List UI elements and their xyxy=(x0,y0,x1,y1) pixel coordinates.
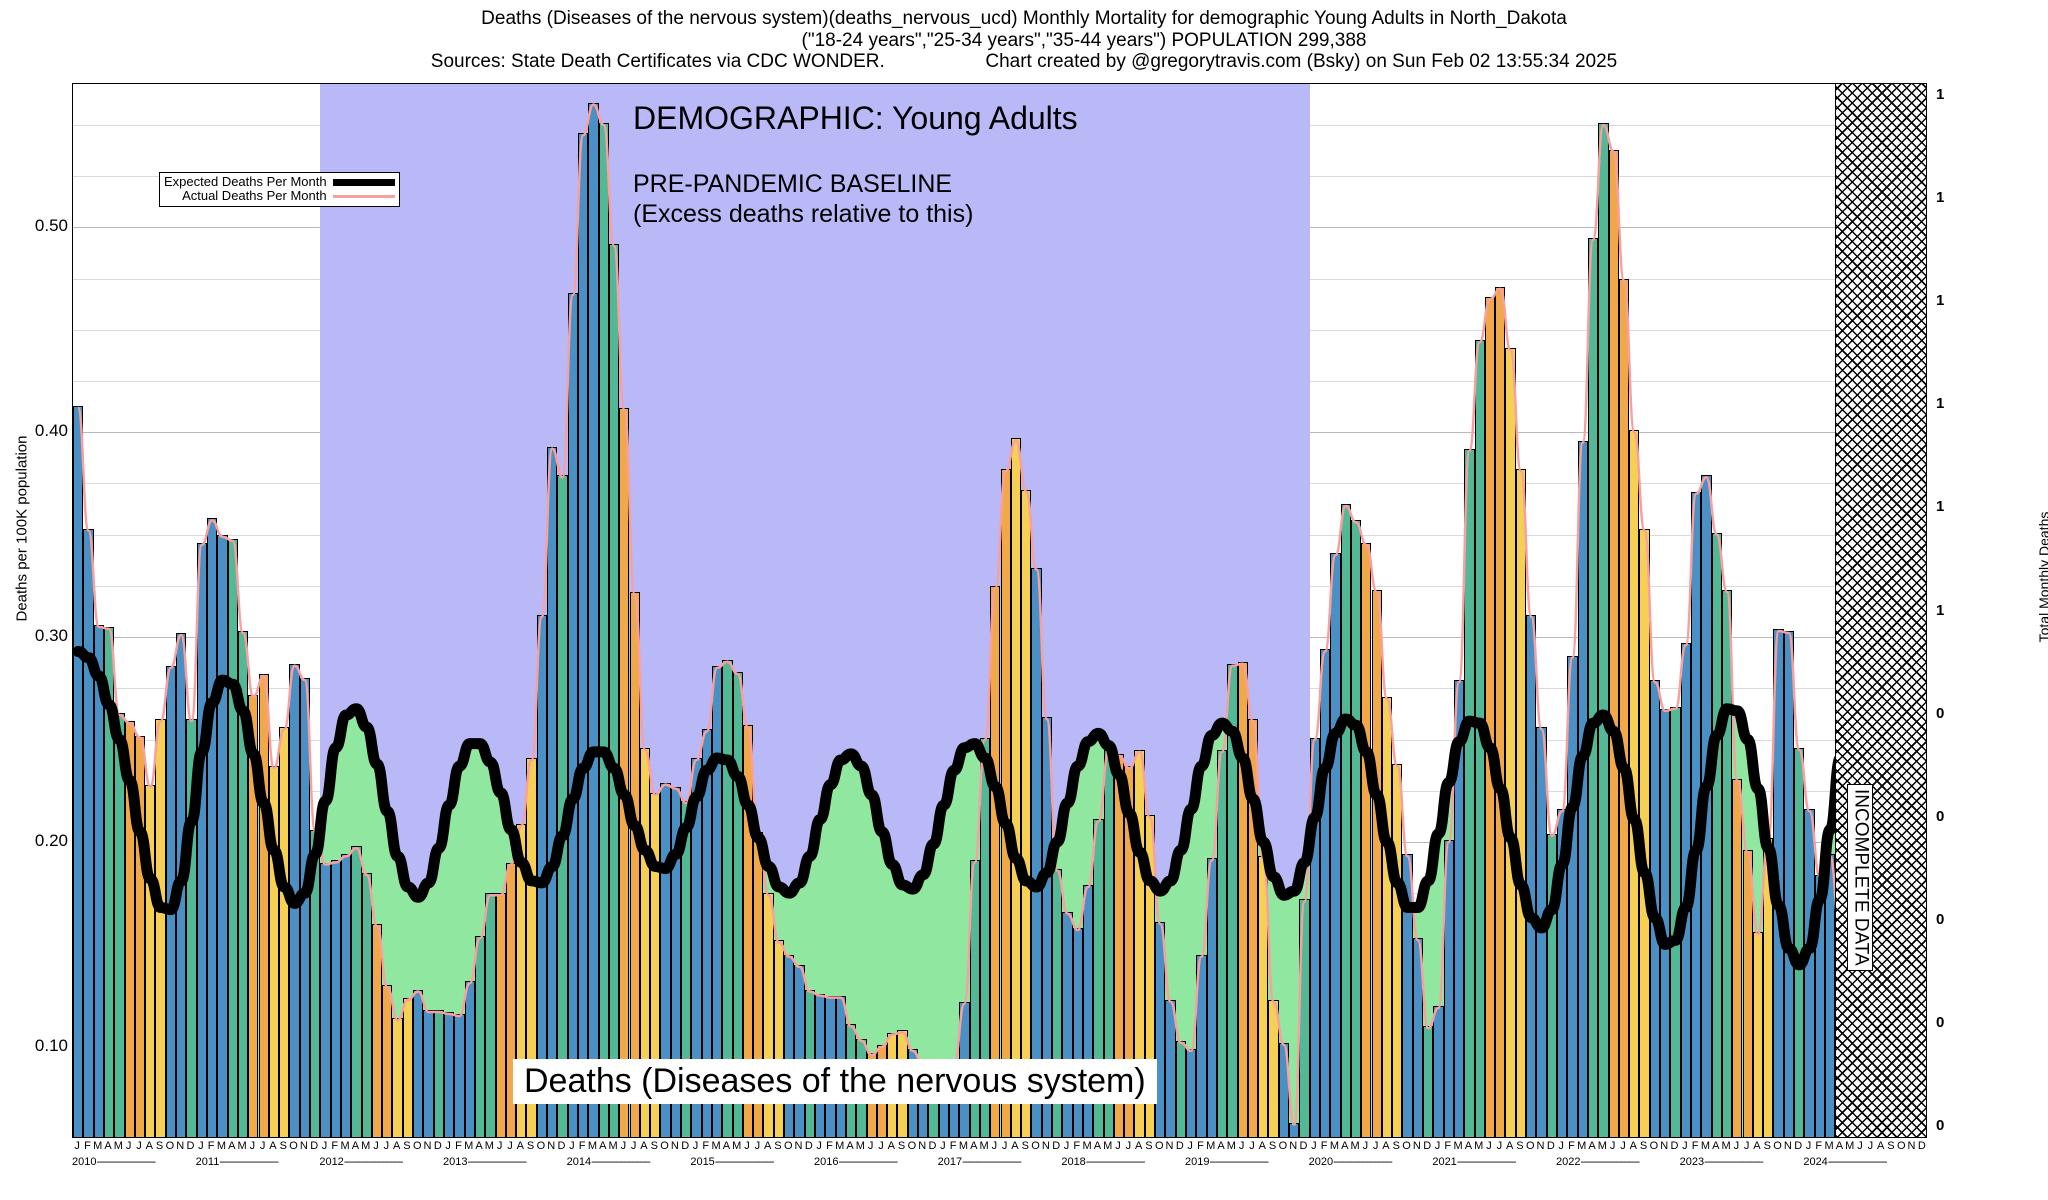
y-axis-right-tick: 1 xyxy=(1936,498,1976,515)
x-axis-year-group: 2020---------------------- xyxy=(1309,1156,1392,1168)
chart-legend: Expected Deaths Per Month Actual Deaths … xyxy=(159,172,400,207)
incomplete-data-region xyxy=(1835,84,1927,1137)
x-axis: JFMAMJJASONDJFMAMJJASONDJFMAMJJASONDJFMA… xyxy=(72,1140,1927,1200)
x-axis-year-label: 2016 xyxy=(814,1156,838,1168)
x-axis-year-rule: ---------------------- xyxy=(1333,1156,1392,1168)
x-axis-year-label: 2010 xyxy=(72,1156,96,1168)
x-axis-year-rule: ---------------------- xyxy=(467,1156,526,1168)
demographic-annotation: DEMOGRAPHIC: Young Adults xyxy=(633,100,1078,137)
x-axis-year-group: 2018---------------------- xyxy=(1061,1156,1144,1168)
y-axis-right-tick: 1 xyxy=(1936,602,1976,619)
y-axis-left-tick: 0.40 xyxy=(0,421,68,441)
expected-line-path xyxy=(78,651,1923,964)
chart-sources-line: Sources: State Death Certificates via CD… xyxy=(0,51,2048,73)
x-axis-year-rule: ---------------------- xyxy=(344,1156,403,1168)
x-axis-year-group: 2023---------------------- xyxy=(1680,1156,1763,1168)
chart-page: Deaths (Diseases of the nervous system)(… xyxy=(0,0,2048,1200)
x-axis-year-label: 2023 xyxy=(1680,1156,1704,1168)
y-axis-right-tick: 1 xyxy=(1936,189,1976,206)
y-axis-right-tick: 0 xyxy=(1936,808,1976,825)
x-axis-year-label: 2015 xyxy=(690,1156,714,1168)
x-axis-year-rule: ---------------------- xyxy=(96,1156,155,1168)
x-axis-year-label: 2020 xyxy=(1309,1156,1333,1168)
x-axis-year-label: 2021 xyxy=(1432,1156,1456,1168)
incomplete-data-label: INCOMPLETE DATA xyxy=(1847,784,1873,971)
x-axis-year-group: 2013---------------------- xyxy=(443,1156,526,1168)
y-axis-right-tick: 0 xyxy=(1936,1014,1976,1031)
x-axis-year-rule: ---------------------- xyxy=(1704,1156,1763,1168)
legend-label-expected: Expected Deaths Per Month xyxy=(164,175,327,189)
x-axis-year-label: 2024 xyxy=(1803,1156,1827,1168)
x-axis-year-group: 2019---------------------- xyxy=(1185,1156,1268,1168)
y-axis-left-tick: 0.50 xyxy=(0,216,68,236)
credit-text: Chart created by @gregorytravis.com (Bsk… xyxy=(985,51,1617,72)
x-axis-month-letter: D xyxy=(1916,1140,1928,1152)
x-axis-year-rule: ---------------------- xyxy=(1828,1156,1887,1168)
y-axis-right-tick: 0 xyxy=(1936,1117,1976,1134)
x-axis-year-group: 2010---------------------- xyxy=(72,1156,155,1168)
y-axis-right-tick: 1 xyxy=(1936,292,1976,309)
plot-area: INCOMPLETE DATA DEMOGRAPHIC: Young Adult… xyxy=(72,83,1927,1138)
baseline-annotation-line1: PRE-PANDEMIC BASELINE xyxy=(633,169,973,199)
chart-subtitle: ("18-24 years","25-34 years","35-44 year… xyxy=(0,30,2048,51)
legend-swatch-actual xyxy=(333,195,395,198)
chart-title: Deaths (Diseases of the nervous system)(… xyxy=(0,8,2048,30)
x-axis-year-label: 2012 xyxy=(319,1156,343,1168)
x-axis-year-rule: ---------------------- xyxy=(962,1156,1021,1168)
x-axis-year-group: 2014---------------------- xyxy=(567,1156,650,1168)
x-axis-year-label: 2011 xyxy=(196,1156,220,1168)
x-axis-year-group: 2012---------------------- xyxy=(319,1156,402,1168)
y-axis-right-tick: 0 xyxy=(1936,911,1976,928)
y-axis-right-tick: 1 xyxy=(1936,395,1976,412)
x-axis-year-group: 2017---------------------- xyxy=(938,1156,1021,1168)
legend-swatch-expected xyxy=(333,179,395,186)
x-axis-year-rule: ---------------------- xyxy=(1580,1156,1639,1168)
x-axis-year-group: 2024---------------------- xyxy=(1803,1156,1886,1168)
x-axis-year-label: 2022 xyxy=(1556,1156,1580,1168)
y-axis-right-label-line1: Total Monthly Deaths xyxy=(2036,417,2048,737)
y-axis-left-tick: 0.20 xyxy=(0,831,68,851)
y-axis-left-tick: 0.10 xyxy=(0,1036,68,1056)
legend-row-actual: Actual Deaths Per Month xyxy=(164,189,395,203)
chart-header: Deaths (Diseases of the nervous system)(… xyxy=(0,8,2048,73)
x-axis-year-rule: ---------------------- xyxy=(1209,1156,1268,1168)
x-axis-year-rule: ---------------------- xyxy=(219,1156,278,1168)
x-axis-year-group: 2022---------------------- xyxy=(1556,1156,1639,1168)
x-axis-year-label: 2013 xyxy=(443,1156,467,1168)
x-axis-year-rule: ---------------------- xyxy=(715,1156,774,1168)
x-axis-year-group: 2011---------------------- xyxy=(196,1156,278,1168)
y-axis-right-tick: 0 xyxy=(1936,705,1976,722)
x-axis-year-rule: ---------------------- xyxy=(591,1156,650,1168)
x-axis-year-label: 2017 xyxy=(938,1156,962,1168)
baseline-annotation: PRE-PANDEMIC BASELINE (Excess deaths rel… xyxy=(633,169,973,229)
y-axis-right-label: Total Monthly Deaths (2023 population no… xyxy=(2036,417,2048,737)
y-axis-left-tick: 0.30 xyxy=(0,626,68,646)
y-axis-right-tick: 1 xyxy=(1936,86,1976,103)
x-axis-year-label: 2019 xyxy=(1185,1156,1209,1168)
x-axis-year-label: 2014 xyxy=(567,1156,591,1168)
legend-row-expected: Expected Deaths Per Month xyxy=(164,175,395,189)
expected-deaths-line xyxy=(73,84,1927,1138)
bottom-overlay-label: Deaths (Diseases of the nervous system) xyxy=(513,1059,1157,1104)
x-axis-year-group: 2016---------------------- xyxy=(814,1156,897,1168)
x-axis-year-group: 2021---------------------- xyxy=(1432,1156,1515,1168)
x-axis-year-rule: ---------------------- xyxy=(838,1156,897,1168)
legend-label-actual: Actual Deaths Per Month xyxy=(182,189,327,203)
x-axis-year-rule: ---------------------- xyxy=(1086,1156,1145,1168)
x-axis-year-label: 2018 xyxy=(1061,1156,1085,1168)
sources-text: Sources: State Death Certificates via CD… xyxy=(431,51,885,72)
x-axis-year-rule: ---------------------- xyxy=(1457,1156,1516,1168)
x-axis-year-group: 2015---------------------- xyxy=(690,1156,773,1168)
baseline-annotation-line2: (Excess deaths relative to this) xyxy=(633,199,973,229)
